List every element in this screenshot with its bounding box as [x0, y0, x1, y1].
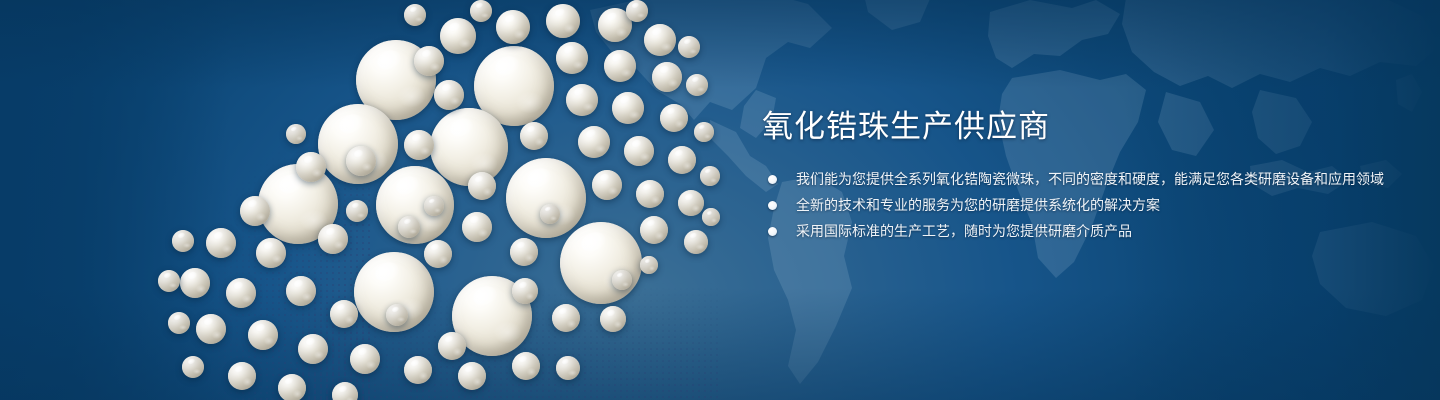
bead — [686, 74, 708, 96]
list-item-label: 我们能为您提供全系列氧化锆陶瓷微珠，不同的密度和硬度，能满足您各类研磨设备和应用… — [796, 168, 1412, 191]
bead — [332, 382, 358, 400]
bead — [346, 200, 368, 222]
bead — [196, 314, 226, 344]
list-item: 我们能为您提供全系列氧化锆陶瓷微珠，不同的密度和硬度，能满足您各类研磨设备和应用… — [762, 168, 1412, 191]
bead — [398, 216, 420, 238]
bead — [462, 212, 492, 242]
bead — [520, 122, 548, 150]
bead — [684, 230, 708, 254]
bead — [350, 344, 380, 374]
bead — [660, 104, 688, 132]
bead — [434, 80, 464, 110]
bead — [592, 170, 622, 200]
page-title: 氧化锆珠生产供应商 — [762, 108, 1050, 146]
bead — [248, 320, 278, 350]
zirconia-beads-image — [0, 0, 760, 400]
bead — [556, 42, 588, 74]
bead — [404, 356, 432, 384]
bead — [512, 278, 538, 304]
bullet-dot-icon — [768, 201, 777, 210]
list-item: 采用国际标准的生产工艺，随时为您提供研磨介质产品 — [762, 220, 1412, 243]
feature-list: 我们能为您提供全系列氧化锆陶瓷微珠，不同的密度和硬度，能满足您各类研磨设备和应用… — [762, 168, 1412, 246]
bead — [600, 306, 626, 332]
bead — [386, 304, 408, 326]
bead — [346, 146, 376, 176]
bead — [556, 356, 580, 380]
bead — [496, 10, 530, 44]
bead — [668, 146, 696, 174]
bead — [298, 334, 328, 364]
bead — [228, 362, 256, 390]
bead — [626, 0, 648, 22]
bead — [286, 124, 306, 144]
bead — [424, 240, 452, 268]
bead — [604, 50, 636, 82]
list-item-label: 全新的技术和专业的服务为您的研磨提供系统化的解决方案 — [796, 194, 1412, 217]
bead — [206, 228, 236, 258]
bead — [438, 332, 466, 360]
bead — [256, 238, 286, 268]
bead — [510, 238, 538, 266]
bead — [172, 230, 194, 252]
bead — [702, 208, 720, 226]
bead — [546, 4, 580, 38]
bead — [226, 278, 256, 308]
bead — [240, 196, 270, 226]
bead — [296, 152, 326, 182]
bead — [404, 4, 426, 26]
bead — [430, 108, 508, 186]
banner-copy: 氧化锆珠生产供应商 我们能为您提供全系列氧化锆陶瓷微珠，不同的密度和硬度，能满足… — [760, 0, 1420, 400]
bead — [512, 352, 540, 380]
bead — [678, 36, 700, 58]
bullet-dot-icon — [768, 227, 777, 236]
bead — [506, 158, 586, 238]
bead — [182, 356, 204, 378]
bead — [636, 180, 664, 208]
bead — [578, 126, 610, 158]
hero-banner: 氧化锆珠生产供应商 我们能为您提供全系列氧化锆陶瓷微珠，不同的密度和硬度，能满足… — [0, 0, 1440, 400]
bullet-dot-icon — [768, 175, 777, 184]
bead — [652, 62, 682, 92]
bead — [286, 276, 316, 306]
bead — [560, 222, 642, 304]
bead — [468, 172, 496, 200]
bead — [644, 24, 676, 56]
bead — [458, 362, 486, 390]
list-item: 全新的技术和专业的服务为您的研磨提供系统化的解决方案 — [762, 194, 1412, 217]
bead — [440, 18, 476, 54]
bead — [700, 166, 720, 186]
bead — [640, 256, 658, 274]
bead — [540, 204, 560, 224]
bead — [566, 84, 598, 116]
bead — [414, 46, 444, 76]
bead — [678, 190, 704, 216]
bead — [470, 0, 492, 22]
bead — [330, 300, 358, 328]
bead — [404, 130, 434, 160]
list-item-label: 采用国际标准的生产工艺，随时为您提供研磨介质产品 — [796, 220, 1412, 243]
bead — [640, 216, 668, 244]
bead — [180, 268, 210, 298]
bead — [424, 196, 444, 216]
bead — [694, 122, 714, 142]
bead — [612, 270, 632, 290]
bead — [278, 374, 306, 400]
bead — [624, 136, 654, 166]
bead — [318, 224, 348, 254]
bead — [158, 270, 180, 292]
bead — [552, 304, 580, 332]
bead — [612, 92, 644, 124]
bead — [168, 312, 190, 334]
